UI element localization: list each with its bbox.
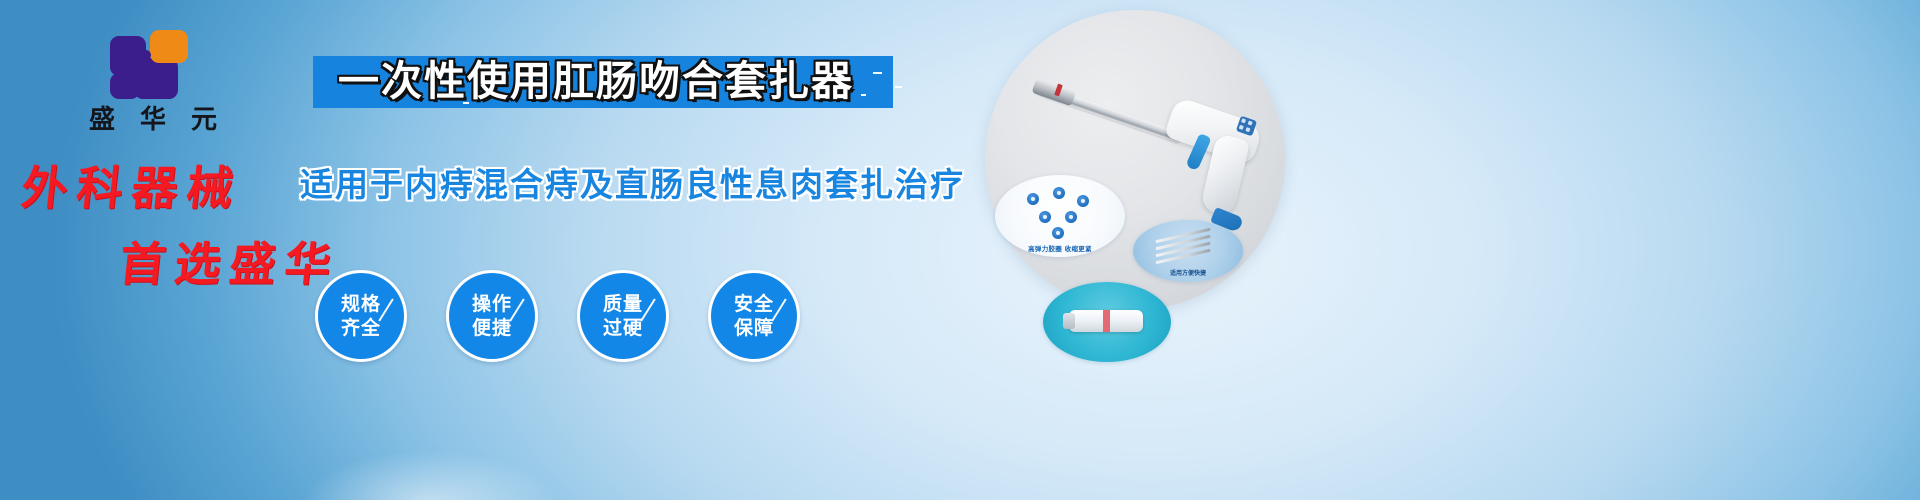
rubber-rings-caption: 高弹力胶圈 收缩更紧 [995,243,1125,253]
feature-badge-2[interactable]: 操作 便捷 [446,270,538,362]
bottom-glow [300,450,560,500]
sparkle-icon [861,94,866,96]
feature-label-4b: 保障 [734,316,774,340]
shenghuayuan-logo-mark [110,28,196,100]
needles-caption: 适用方便快捷 [1133,268,1243,277]
feature-label-3a: 质量 [603,292,643,316]
product-image: 高弹力胶圈 收缩更紧 适用方便快捷 [985,10,1315,340]
brand-logo[interactable]: 盛 华 元 [63,28,243,135]
subtitle: 适用于内痔混合痔及直肠良性息肉套扎治疗 [300,158,965,206]
sparkle-icon [873,72,882,74]
headline-bar: 一次性使用肛肠吻合套扎器 [313,56,893,108]
feature-label-2b: 便捷 [472,316,512,340]
feature-badge-4[interactable]: 安全 保障 [708,270,800,362]
page-title: 一次性使用肛肠吻合套扎器 [338,52,854,110]
feature-label-2a: 操作 [472,292,512,316]
slogan-line-1: 外科器械 [19,152,246,218]
rubber-rings-inset: 高弹力胶圈 收缩更紧 [995,175,1125,257]
vial-illustration [1069,310,1143,332]
needles-inset: 适用方便快捷 [1133,220,1243,282]
sparkle-icon [895,86,902,88]
feature-label-3b: 过硬 [603,316,643,340]
feature-label-4a: 安全 [734,292,774,316]
feature-badge-1[interactable]: 规格 齐全 [315,270,407,362]
feature-badge-3[interactable]: 质量 过硬 [577,270,669,362]
brand-name: 盛 华 元 [63,106,243,135]
slogan-line-2: 首选盛华 [117,228,344,294]
feature-label-1b: 齐全 [341,316,381,340]
feature-label-1a: 规格 [341,292,381,316]
vial-inset [1043,282,1171,362]
feature-list: 规格 齐全 操作 便捷 质量 过硬 安全 保障 [315,270,800,362]
promo-banner: 盛 华 元 外科器械 首选盛华 一次性使用肛肠吻合套扎器 适用于内痔混合痔及直肠… [0,0,1920,500]
